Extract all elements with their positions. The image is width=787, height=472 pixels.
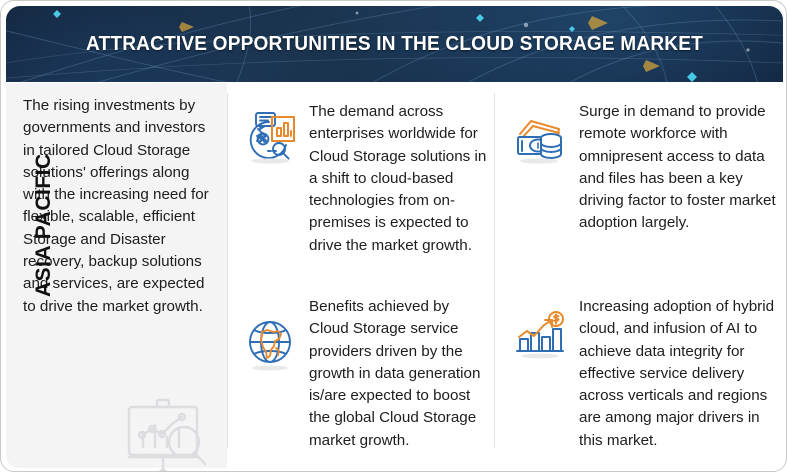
insight-card-surge-remote-workforce: Surge in demand to provide remote workfo… xyxy=(509,101,787,235)
body-area: The rising investments by governments an… xyxy=(6,83,783,468)
divider-left xyxy=(227,93,228,448)
insight-card-text: The demand across enterprises worldwide … xyxy=(309,101,489,257)
header-banner: ATTRACTIVE OPPORTUNITIES IN THE CLOUD ST… xyxy=(6,6,783,82)
insight-card-hybrid-cloud-ai: Increasing adoption of hybrid cloud, and… xyxy=(509,296,787,452)
globe-icon xyxy=(239,312,301,374)
insight-card-text: Surge in demand to provide remote workfo… xyxy=(579,101,779,235)
left-summary-panel: The rising investments by governments an… xyxy=(6,83,227,468)
region-label-asia-pacific: ASIA PACIFIC xyxy=(32,177,55,297)
page-title: ATTRACTIVE OPPORTUNITIES IN THE CLOUD ST… xyxy=(33,6,756,82)
insight-card-demand-across-enterprises: The demand across enterprises worldwide … xyxy=(239,101,495,257)
presentation-board-chart-magnifier-icon xyxy=(114,395,212,472)
growth-bar-chart-dollar-icon xyxy=(509,306,571,368)
insight-card-text: Benefits achieved by Cloud Storage servi… xyxy=(309,296,489,452)
infographic-root: ATTRACTIVE OPPORTUNITIES IN THE CLOUD ST… xyxy=(0,0,787,472)
pie-chart-report-search-icon xyxy=(239,105,301,167)
insight-card-benefits-service-providers: Benefits achieved by Cloud Storage servi… xyxy=(239,296,495,452)
cash-coins-icon xyxy=(509,107,571,169)
insight-card-text: Increasing adoption of hybrid cloud, and… xyxy=(579,296,779,452)
